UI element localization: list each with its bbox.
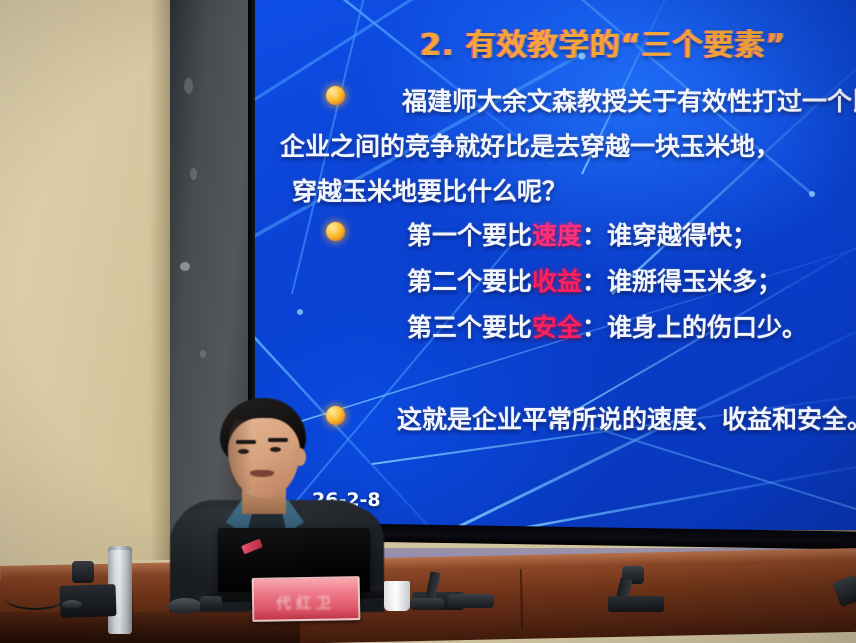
microphone-cable: [4, 584, 66, 610]
presenter-eye-left: [238, 449, 249, 454]
slide-line-1: 福建师大余文森教授关于有效性打过一个比: [402, 82, 856, 118]
slide-bullet-icon-2: [326, 222, 345, 241]
laptop-logo-icon: [241, 539, 263, 555]
slide-keyword-profit: 收益: [532, 267, 582, 296]
presenter-brow-left: [236, 440, 256, 444]
desk-seam: [520, 569, 523, 629]
desk-folder-right: [448, 594, 494, 608]
slide-keyword-speed: 速度: [532, 221, 582, 250]
presenter-mouth: [250, 470, 274, 477]
desk-device-center: [200, 596, 222, 610]
slide-line-7: 这就是企业平常所说的速度、收益和安全。: [397, 400, 856, 436]
slide-title: 2. 有效教学的“三个要素”: [420, 20, 786, 64]
presenter-brow-right: [268, 438, 288, 442]
slide-line-4: 第一个要比速度：谁穿越得快；: [407, 216, 757, 252]
left-wall: [0, 0, 172, 560]
slide-keyword-safety: 安全: [532, 313, 582, 342]
desk-puck-center: [168, 598, 202, 614]
slide-line-6-suffix: ：谁身上的伤口少。: [582, 313, 807, 342]
lecture-hall-scene: 2. 有效教学的“三个要素” 福建师大余文森教授关于有效性打过一个比 企业之间的…: [0, 0, 856, 643]
microphone-base-right: [608, 596, 664, 612]
slide-line-6-prefix: 第三个要比: [407, 313, 532, 342]
slide-line-5: 第二个要比收益：谁掰得玉米多；: [407, 262, 782, 298]
desk-nameplate-label: 代红卫: [254, 591, 358, 614]
presenter-ear: [294, 448, 306, 466]
microphone-puck-left: [62, 600, 82, 609]
presenter-eye-right: [270, 447, 281, 452]
slide-line-5-suffix: ：谁掰得玉米多；: [582, 267, 782, 296]
presenter-face-shadow: [228, 420, 252, 492]
slide-line-3: 穿越玉米地要比什么呢？: [292, 172, 567, 208]
desk-item-right: [410, 598, 444, 610]
slide-line-4-suffix: ：谁穿越得快；: [582, 221, 757, 250]
slide-line-5-prefix: 第二个要比: [407, 267, 532, 296]
microphone-head-left: [72, 561, 94, 583]
desk-nameplate: 代红卫: [252, 576, 361, 622]
paper-cup: [384, 581, 410, 611]
slide-line-2: 企业之间的竞争就好比是去穿越一块玉米地，: [280, 127, 780, 163]
slide-line-4-prefix: 第一个要比: [407, 221, 532, 250]
slide-bullet-icon-1: [326, 86, 345, 105]
slide-line-6: 第三个要比安全：谁身上的伤口少。: [407, 308, 807, 344]
